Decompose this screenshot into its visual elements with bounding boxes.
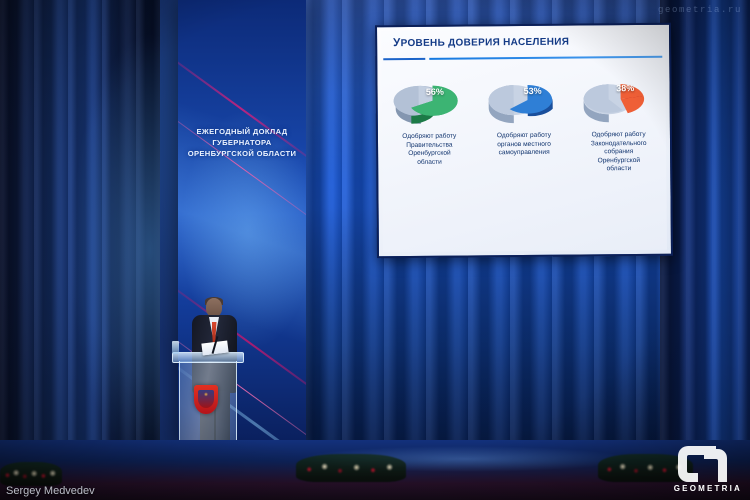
banner-text: ЕЖЕГОДНЫЙ ДОКЛАД ГУБЕРНАТОРА ОРЕНБУРГСКО… [178, 126, 306, 159]
coat-of-arms-emblem [194, 385, 218, 414]
site-watermark: geometria.ru [658, 5, 742, 15]
pie-3-svg [582, 69, 654, 126]
presentation-slide: УРОВЕНЬ ДОВЕРИЯ НАСЕЛЕНИЯ [381, 29, 667, 252]
pie-1-svg [393, 71, 465, 128]
pie-2-value: 53% [524, 86, 542, 96]
water-glass [172, 341, 179, 354]
pie-2-svg [487, 70, 559, 127]
pie-2-graphic: 53% [487, 70, 559, 127]
pie-1-label-line: области [387, 158, 472, 167]
pie-1-graphic: 56% [393, 71, 465, 128]
slide-title-rest: РОВЕНЬ ДОВЕРИЯ [401, 37, 504, 49]
flower-arrangement-left [296, 454, 406, 482]
banner-line-1: ЕЖЕГОДНЫЙ ДОКЛАД [178, 126, 306, 137]
projection-screen: УРОВЕНЬ ДОВЕРИЯ НАСЕЛЕНИЯ [375, 23, 673, 259]
title-rule-left [383, 58, 425, 61]
pie-3-value: 38% [616, 83, 634, 93]
right-curtain [660, 0, 750, 470]
pie-3-graphic: 38% [582, 69, 654, 126]
banner-streak-2 [178, 92, 306, 240]
pie-1-value: 56% [426, 87, 444, 97]
banner-line-3: ОРЕНБУРГСКОЙ ОБЛАСТИ [178, 148, 306, 159]
pie-3-label: Одобряют работу Законодательного собрани… [571, 131, 666, 175]
pie-chart-1: 56% Одобряют работу Правительства Оренбу… [381, 70, 477, 176]
pie-chart-2: 53% Одобряют работу органов местного сам… [476, 70, 572, 176]
pie-chart-group: 56% Одобряют работу Правительства Оренбу… [381, 69, 666, 176]
pie-3-label-line: области [577, 165, 662, 174]
banner-line-2: ГУБЕРНАТОРА [178, 137, 306, 148]
pie-2-label-line: самоуправления [482, 149, 567, 158]
title-rule-right [429, 56, 662, 60]
coat-of-arms-shield [198, 390, 214, 408]
pie-1-label: Одобряют работу Правительства Оренбургск… [382, 132, 477, 167]
pie-2-label: Одобряют работу органов местного самоупр… [477, 132, 572, 159]
slide-title: УРОВЕНЬ ДОВЕРИЯ НАСЕЛЕНИЯ [393, 36, 569, 50]
photographer-credit: Sergey Medvedev [6, 485, 95, 497]
photo-canvas: ЕЖЕГОДНЫЙ ДОКЛАД ГУБЕРНАТОРА ОРЕНБУРГСКО… [0, 0, 750, 500]
pie-chart-3: 38% Одобряют работу Законодательного соб… [571, 69, 667, 175]
geometria-logo-text: GEOMETRIA [674, 484, 742, 493]
flower-arrangement-far-left [0, 462, 62, 486]
left-curtain [0, 0, 160, 500]
slide-title-emphasis: НАСЕЛЕНИЯ [503, 37, 569, 49]
